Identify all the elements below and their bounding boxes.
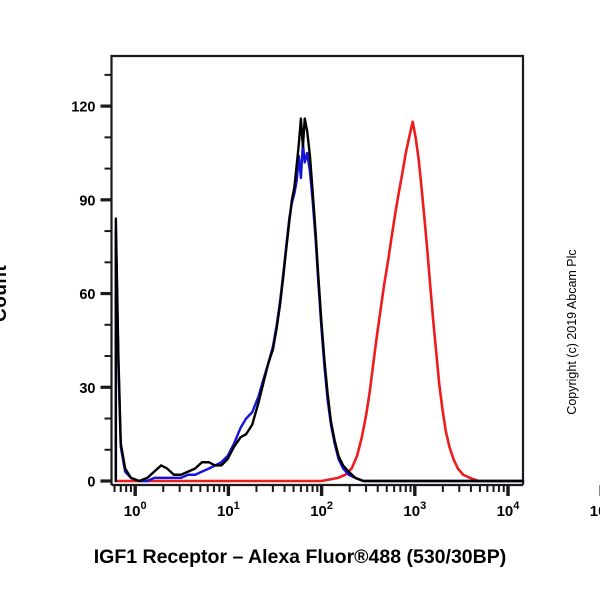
svg-text:103: 103 <box>403 500 426 520</box>
svg-text:105: 105 <box>590 500 600 520</box>
y-axis-label: Count <box>0 282 12 322</box>
svg-text:60: 60 <box>79 287 95 303</box>
axis-ticks <box>101 75 600 496</box>
svg-text:100: 100 <box>124 500 147 520</box>
flow-cytometry-histogram-figure: 0306090120100101102103104105 Count IGF1 … <box>0 0 600 600</box>
axis-tick-labels: 0306090120100101102103104105 <box>71 100 600 520</box>
x-axis-title: IGF1 Receptor – Alexa Fluor®488 (530/30B… <box>0 546 600 569</box>
svg-text:120: 120 <box>71 100 95 116</box>
svg-text:102: 102 <box>310 500 333 520</box>
svg-text:90: 90 <box>79 193 95 209</box>
histogram-curves <box>116 119 523 481</box>
copyright-notice: Copyright (c) 2019 Abcam Plc <box>565 217 579 447</box>
svg-text:0: 0 <box>87 475 95 491</box>
svg-text:101: 101 <box>217 500 240 520</box>
histogram-plot: 0306090120100101102103104105 <box>0 0 600 600</box>
svg-text:104: 104 <box>497 500 521 520</box>
svg-text:30: 30 <box>79 381 95 397</box>
